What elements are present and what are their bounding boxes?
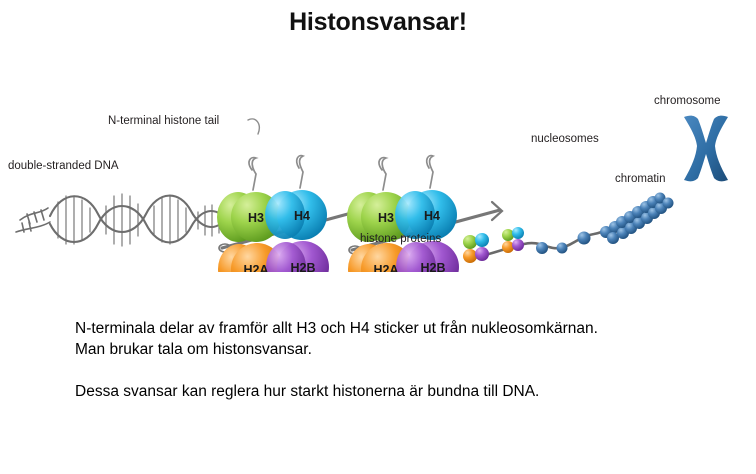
slide-body-text: N-terminala delar av framför allt H3 och… xyxy=(75,318,715,402)
body-paragraph-1: N-terminala delar av framför allt H3 och… xyxy=(75,318,715,360)
chromatin-fiber xyxy=(600,193,674,245)
n-terminal-tail-icon-left xyxy=(249,156,303,190)
figure-label-nucleosomes: nucleosomes xyxy=(531,133,599,145)
dna-double-helix xyxy=(16,194,229,246)
chromatin-packaging-figure: H3 H4 H2A H2B H3 H4 H2A H2B xyxy=(0,72,756,272)
body-line-3: Dessa svansar kan reglera hur starkt his… xyxy=(75,381,715,402)
nucleosome-octamer-right: H3 H4 H2A H2B xyxy=(347,190,459,272)
n-terminal-tail-icon-right xyxy=(379,156,433,190)
histone-label-h2b-right: H2B xyxy=(420,261,445,272)
figure-label-chromosome: chromosome xyxy=(654,95,720,107)
histone-label-h3-right: H3 xyxy=(378,211,394,225)
figure-label-chromatin: chromatin xyxy=(615,173,666,185)
nucleosome-octamer-left: H3 H4 H2A H2B xyxy=(217,190,329,272)
body-line-2: Man brukar tala om histonsvansar. xyxy=(75,339,715,360)
body-line-1: N-terminala delar av framför allt H3 och… xyxy=(75,318,715,339)
figure-label-histone-proteins: histone proteins xyxy=(360,233,441,245)
histone-label-h2b-left: H2B xyxy=(290,261,315,272)
histone-label-h3-left: H3 xyxy=(248,211,264,225)
histone-label-h4-left: H4 xyxy=(294,209,310,223)
chromosome-icon xyxy=(684,116,728,182)
body-paragraph-2: Dessa svansar kan reglera hur starkt his… xyxy=(75,381,715,402)
histone-label-h4-right: H4 xyxy=(424,209,440,223)
figure-label-n-terminal-tail: N-terminal histone tail xyxy=(108,115,219,127)
mini-octamer-1 xyxy=(463,233,489,263)
histone-label-h2a-right: H2A xyxy=(373,263,398,272)
page-title: Histonsvansar! xyxy=(0,8,756,37)
mini-octamer-2 xyxy=(502,227,524,253)
tail-leader-line xyxy=(248,119,259,134)
figure-label-dna: double-stranded DNA xyxy=(8,160,119,172)
histone-label-h2a-left: H2A xyxy=(243,263,268,272)
paragraph-spacer xyxy=(75,360,715,381)
